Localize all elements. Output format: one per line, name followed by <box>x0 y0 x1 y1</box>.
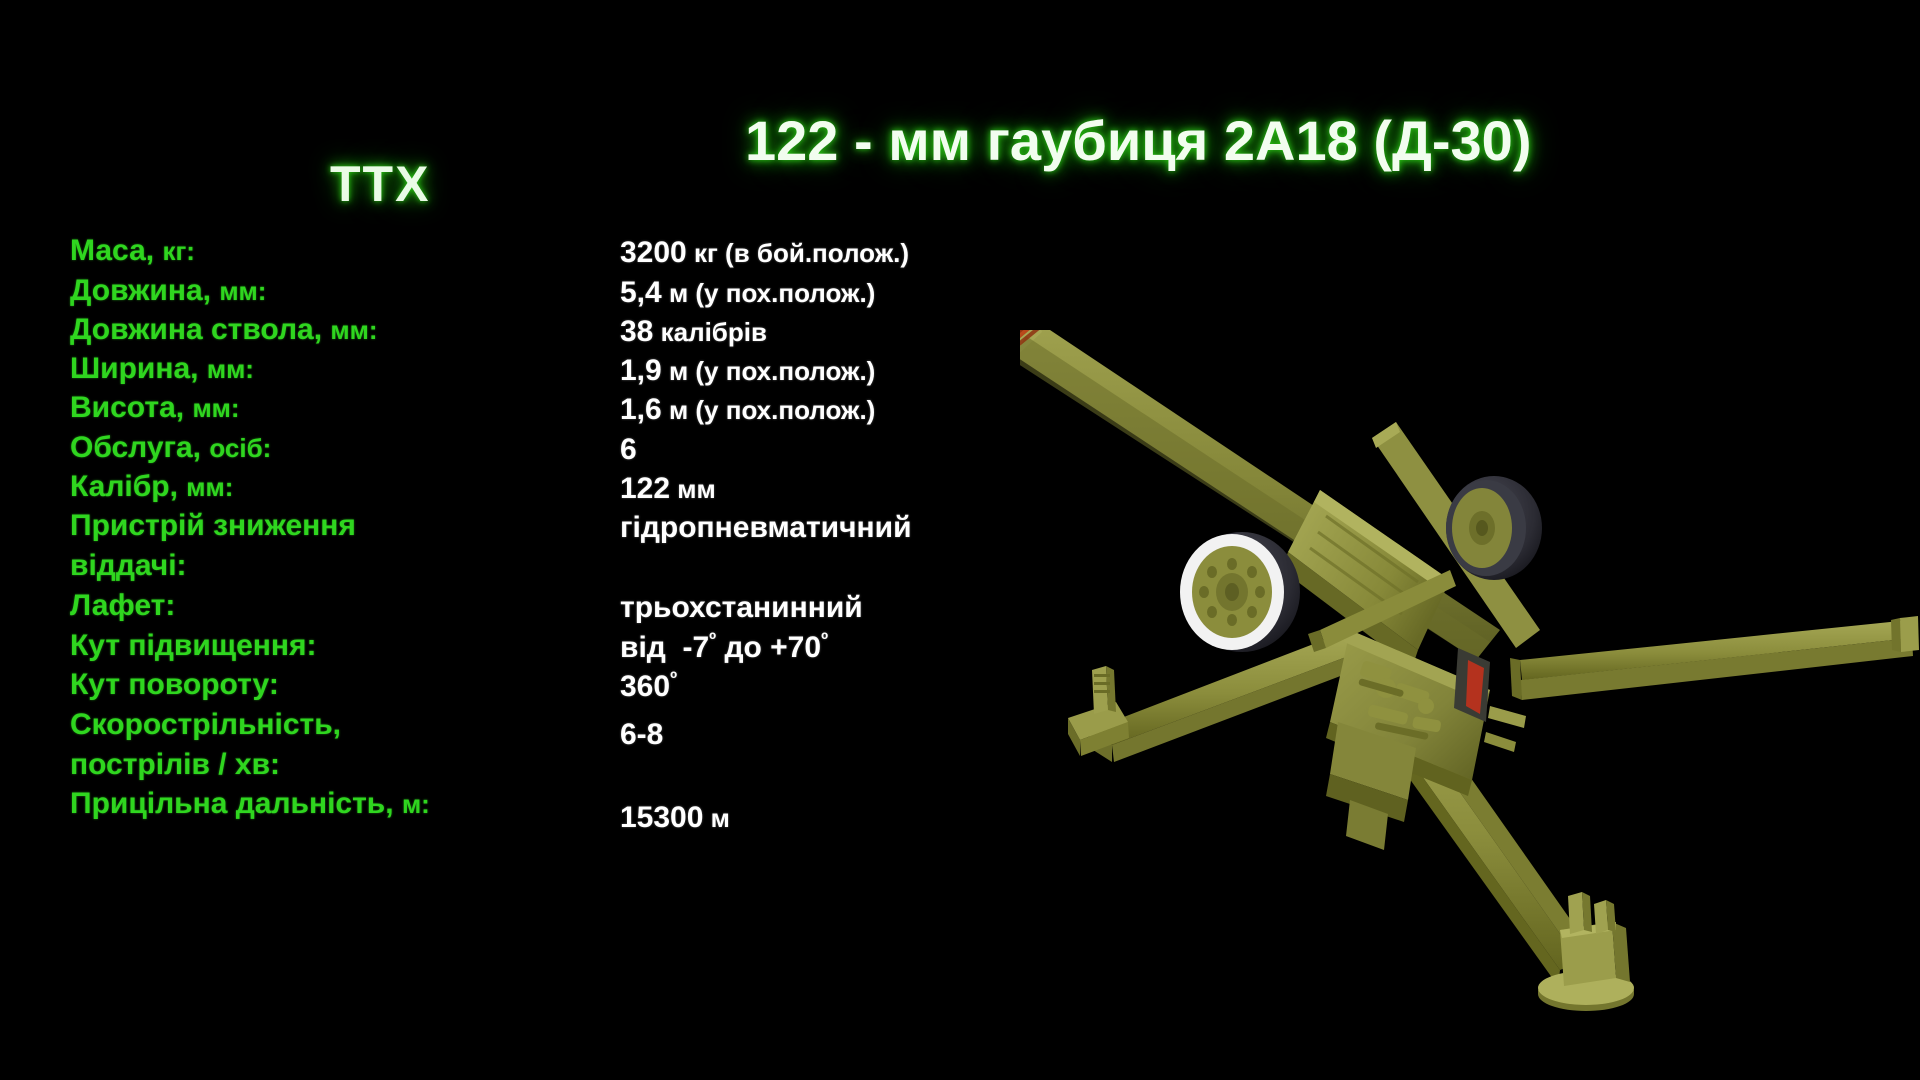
spec-label-caliber: Калібр, мм: <box>70 472 233 502</box>
spec-value-barrel-length: 38 калібрів <box>620 317 767 347</box>
slide-root: ТТХ 122 - мм гаубиця 2А18 (Д-30) Маса, к… <box>0 0 1920 1080</box>
spec-value-length: 5,4 м (у пох.полож.) <box>620 278 875 308</box>
trail-right <box>1510 616 1919 700</box>
spec-label-height: Висота, мм: <box>70 393 240 423</box>
spec-label-carriage: Лафет: <box>70 591 175 621</box>
spec-label-barrel-length: Довжина ствола, мм: <box>70 315 378 345</box>
wheel-right <box>1446 476 1542 580</box>
spec-label-rate-of-fire-line1: Скорострільність, <box>70 710 341 740</box>
spec-value-width: 1,9 м (у пох.полож.) <box>620 356 875 386</box>
ttx-section-heading: ТТХ <box>330 155 430 213</box>
spec-value-height: 1,6 м (у пох.полож.) <box>620 395 875 425</box>
spec-value-rate-of-fire: 6-8 <box>620 720 663 750</box>
spec-label-length: Довжина, мм: <box>70 276 266 306</box>
spec-value-recoil-device: гідропневматичний <box>620 513 912 543</box>
howitzer-illustration <box>1020 330 1920 1050</box>
spec-label-traverse-angle: Кут повороту: <box>70 670 279 700</box>
spec-value-mass: 3200 кг (в бой.полож.) <box>620 238 909 268</box>
spec-value-caliber: 122 мм <box>620 474 716 504</box>
spec-value-elevation-angle: від -7º до +70º <box>620 633 828 663</box>
spec-label-mass: Маса, кг: <box>70 236 195 266</box>
spec-value-effective-range: 15300 м <box>620 803 730 833</box>
spec-value-carriage: трьохстанинний <box>620 593 863 623</box>
howitzer-render-svg <box>1020 330 1920 1050</box>
page-title: 122 - мм гаубиця 2А18 (Д-30) <box>745 108 1531 173</box>
wheel-left <box>1180 532 1300 652</box>
spec-label-recoil-device-line2: віддачі: <box>70 551 187 581</box>
spec-label-effective-range: Прицільна дальність, м: <box>70 789 430 819</box>
spec-label-crew: Обслуга, осіб: <box>70 433 271 463</box>
spec-value-traverse-angle: 360º <box>620 672 677 702</box>
spec-label-recoil-device-line1: Пристрій зниження <box>70 511 356 541</box>
spec-label-rate-of-fire-line2: пострілів / хв: <box>70 750 280 780</box>
trail-left <box>1068 630 1372 762</box>
spec-value-crew: 6 <box>620 435 637 465</box>
spec-label-width: Ширина, мм: <box>70 354 254 384</box>
spec-label-elevation-angle: Кут підвищення: <box>70 631 317 661</box>
